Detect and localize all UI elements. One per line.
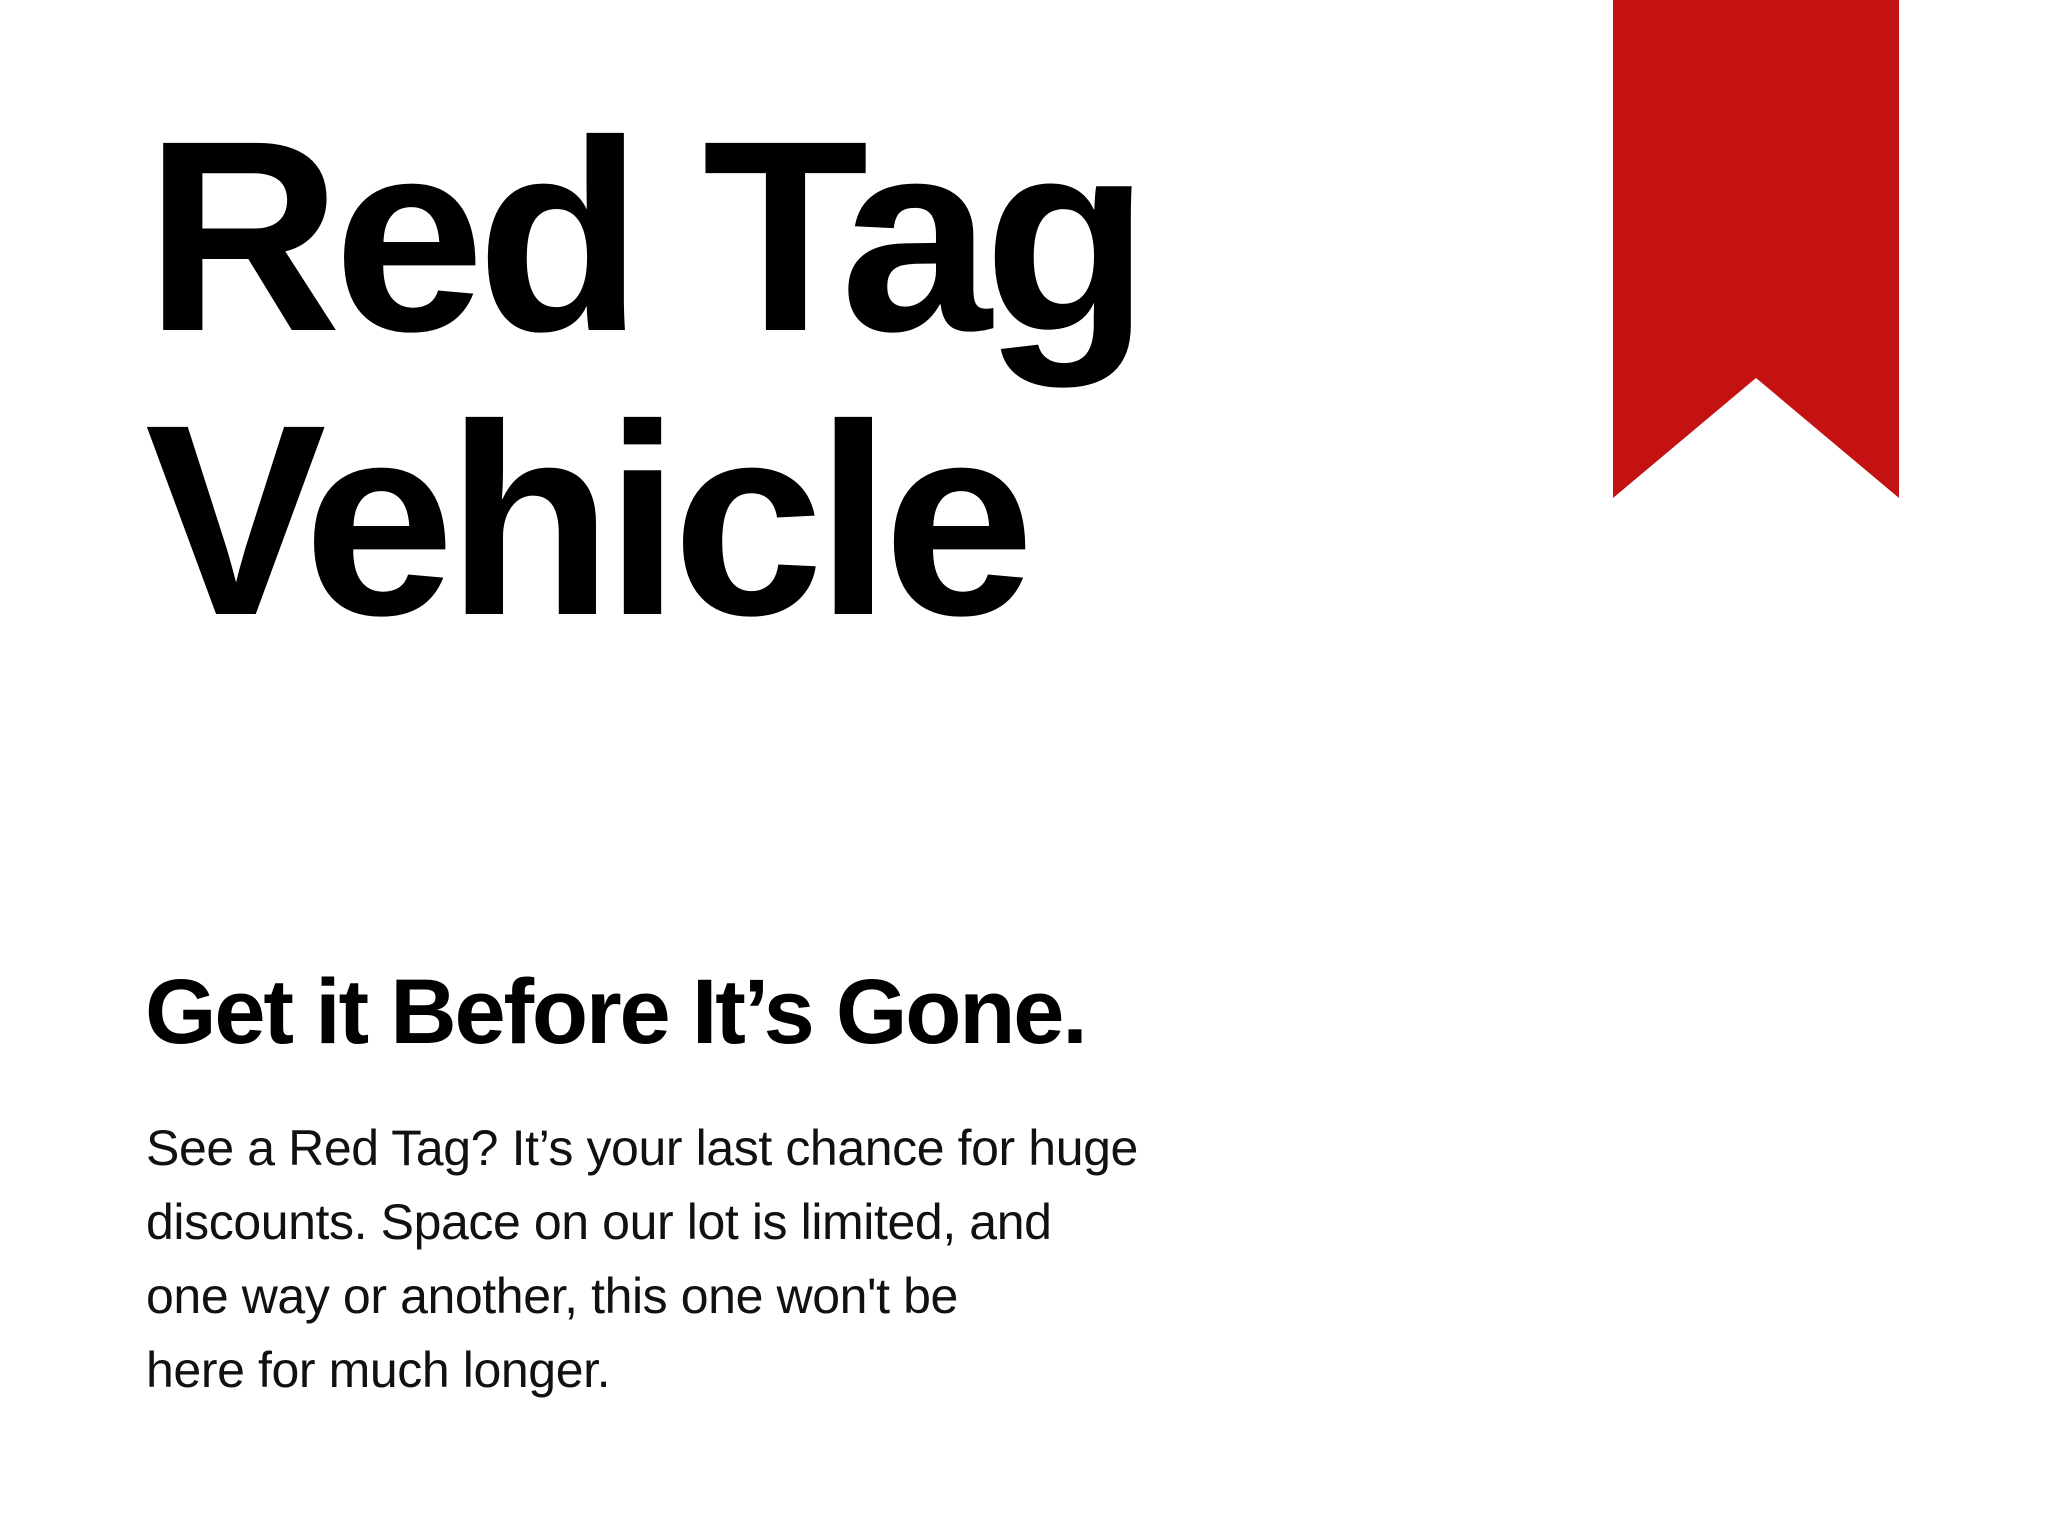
promo-copy-block: Red Tag Vehicle Get it Before It’s Gone.… <box>0 0 2048 1536</box>
body-line-3: one way or another, this one won't be <box>146 1259 1396 1333</box>
body-paragraph: See a Red Tag? It’s your last chance for… <box>146 1111 1396 1407</box>
page-title: Red Tag Vehicle <box>145 94 1445 662</box>
promo-banner: Red Tag Vehicle Get it Before It’s Gone.… <box>0 0 2048 1536</box>
body-line-2: discounts. Space on our lot is limited, … <box>146 1185 1396 1259</box>
headline-line-1: Red Tag <box>145 94 1445 378</box>
subheading: Get it Before It’s Gone. <box>145 962 1086 1062</box>
body-line-1: See a Red Tag? It’s your last chance for… <box>146 1111 1396 1185</box>
body-line-4: here for much longer. <box>146 1333 1396 1407</box>
headline-line-2: Vehicle <box>145 378 1445 662</box>
